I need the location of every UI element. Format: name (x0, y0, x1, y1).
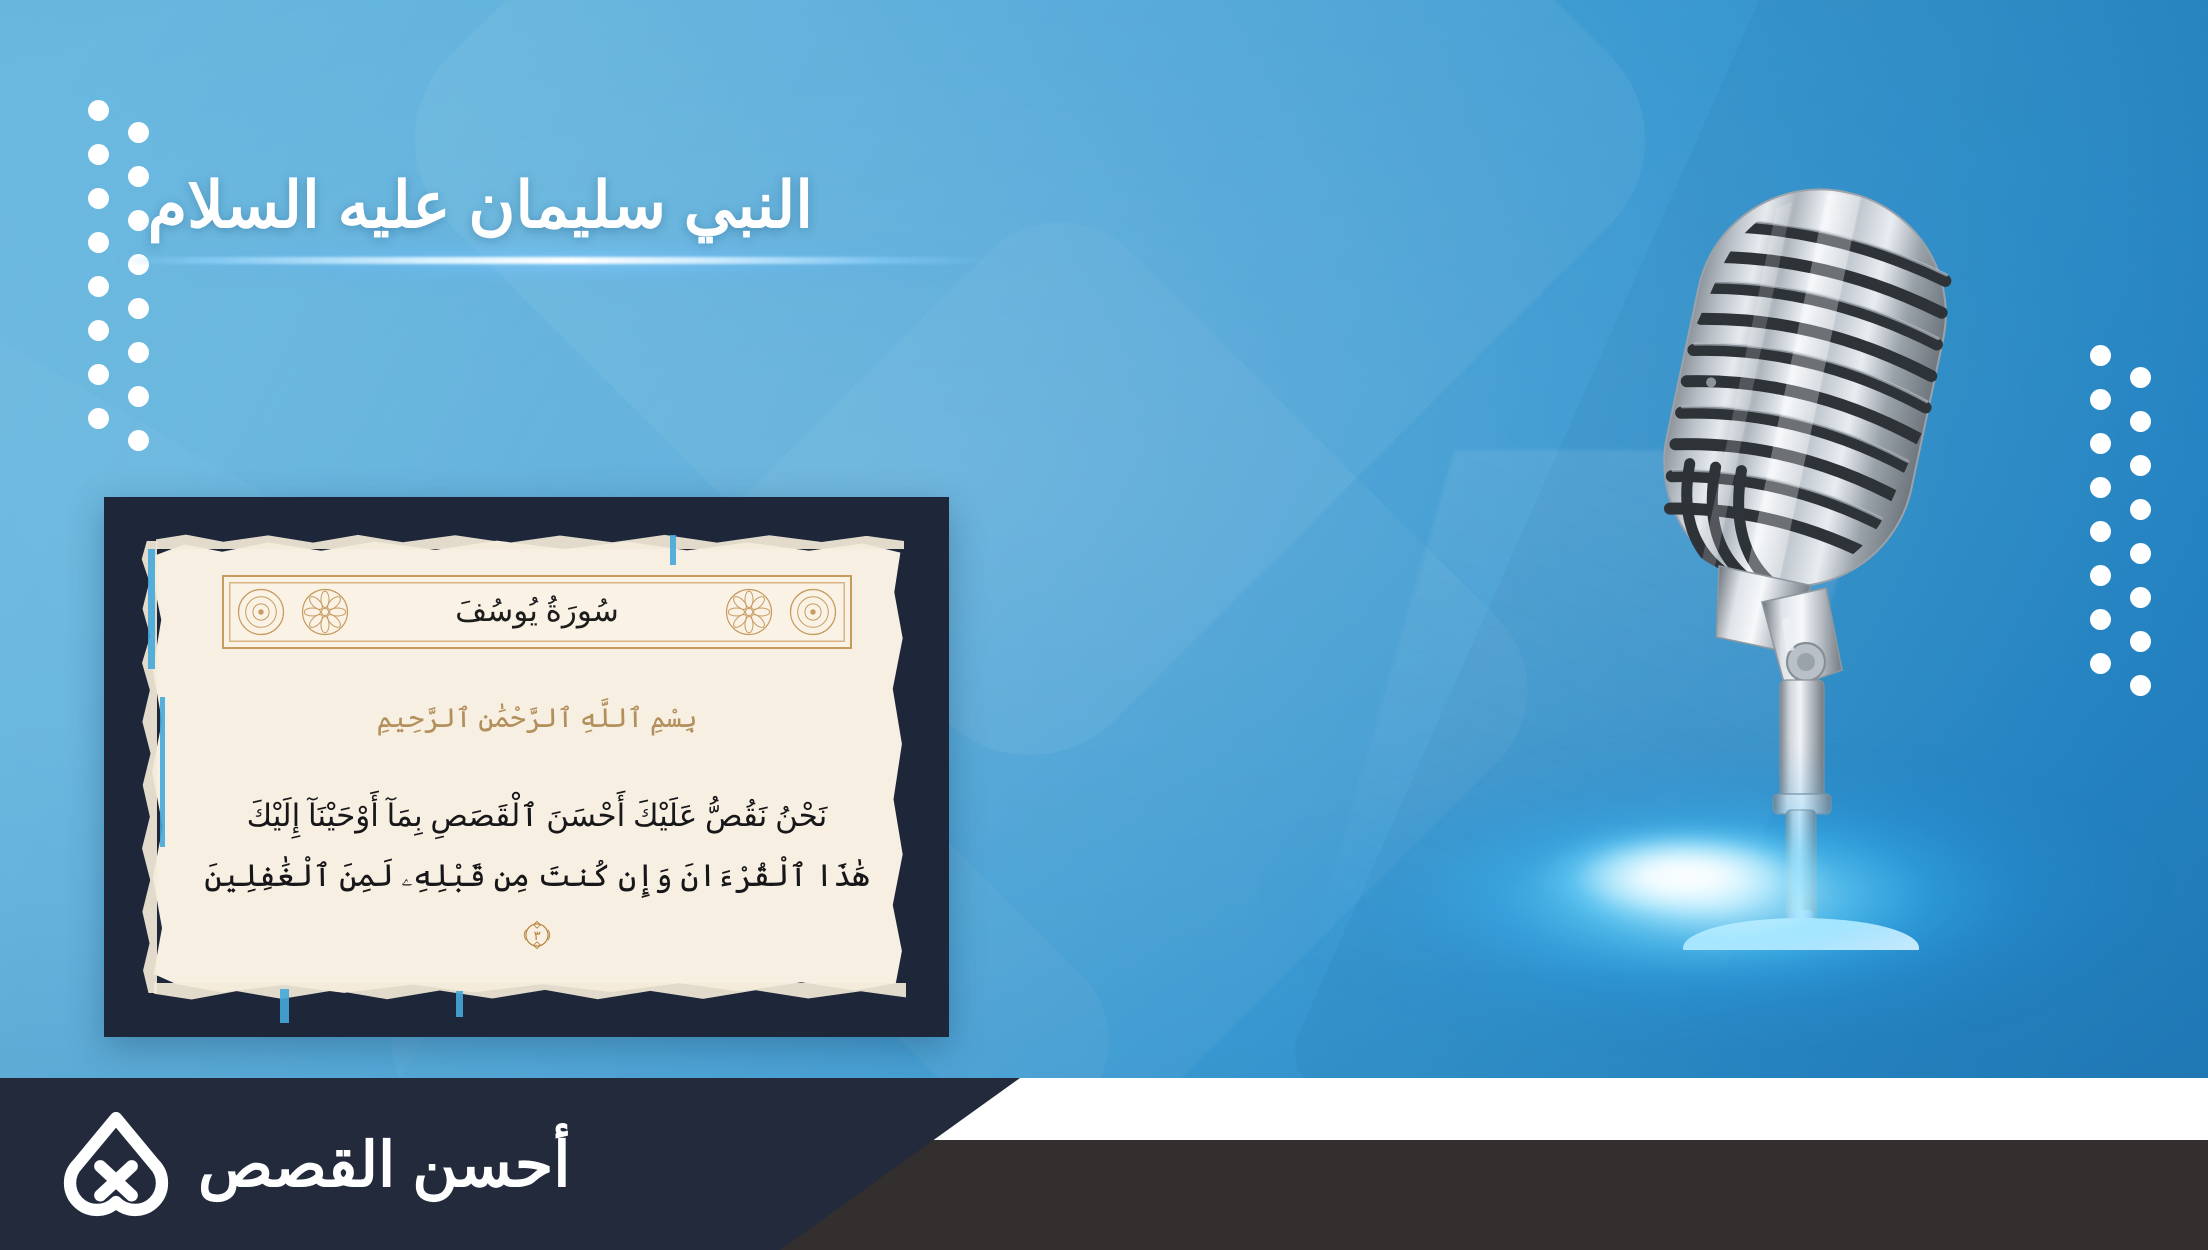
dot-pattern-left (88, 100, 198, 440)
footer-brand-label: أحسن القصص (198, 1128, 570, 1201)
decorative-dot (128, 386, 149, 407)
quran-verse-card: سُورَةُ يُوسُفَ بِسْمِ ٱللَّهِ ٱلرَّحْمَ… (104, 497, 949, 1037)
ayah-number-marker-icon: ٣ (520, 918, 554, 952)
decorative-dot (2130, 587, 2151, 608)
brush-flick-e (670, 535, 676, 565)
decorative-dot (88, 144, 109, 165)
thumbnail-canvas: النبي سليمان عليه السلام (0, 0, 2208, 1250)
verse-line-1: نَحْنُ نَقُصُّ عَلَيْكَ أَحْسَنَ ٱلْقَصَ… (200, 786, 874, 846)
retro-microphone-icon (1480, 150, 2020, 950)
dot-pattern-right (2090, 345, 2200, 685)
decorative-dot (88, 188, 109, 209)
brush-flick-c (280, 989, 289, 1023)
decorative-dot (88, 232, 109, 253)
decorative-dot (2090, 433, 2111, 454)
surah-name: سُورَةُ يُوسُفَ (224, 577, 850, 647)
decorative-dot (88, 364, 109, 385)
brush-flick-d (456, 991, 463, 1017)
decorative-dot (2130, 543, 2151, 564)
basmala-text: بِسْمِ ٱللَّهِ ٱلرَّحْمَٰنِ ٱلرَّحِيمِ (192, 703, 882, 734)
decorative-dot (128, 298, 149, 319)
decorative-dot (128, 122, 149, 143)
page-title: النبي سليمان عليه السلام (173, 165, 813, 245)
decorative-dot (2090, 477, 2111, 498)
decorative-dot (2090, 345, 2111, 366)
decorative-dot (88, 276, 109, 297)
ahsan-alqasas-logo-icon (60, 1108, 172, 1220)
footer-brand: أحسن القصص (60, 1078, 570, 1250)
decorative-dot (128, 166, 149, 187)
decorative-dot (2090, 565, 2111, 586)
card-content: سُورَةُ يُوسُفَ بِسْمِ ٱللَّهِ ٱلرَّحْمَ… (192, 575, 882, 967)
verse-line-2: هَٰذَا ٱلْقُرْءَانَ وَإِن كُنتَ مِن قَبْ… (204, 858, 869, 893)
verse-text: نَحْنُ نَقُصُّ عَلَيْكَ أَحْسَنَ ٱلْقَصَ… (192, 786, 882, 967)
decorative-dot (128, 430, 149, 451)
ayah-number: ٣ (534, 929, 541, 943)
decorative-dot (2130, 455, 2151, 476)
decorative-dot (2090, 653, 2111, 674)
verse-line-2-wrap: هَٰذَا ٱلْقُرْءَانَ وَإِن كُنتَ مِن قَبْ… (200, 846, 874, 967)
decorative-dot (128, 254, 149, 275)
decorative-dot (2130, 631, 2151, 652)
decorative-dot (88, 320, 109, 341)
microphone-illustration (1480, 150, 2020, 950)
decorative-dot (2090, 609, 2111, 630)
footer-bar: أحسن القصص (0, 1078, 2208, 1250)
decorative-dot (128, 210, 149, 231)
surah-header-band: سُورَةُ يُوسُفَ (222, 575, 852, 649)
brush-flick-b (160, 697, 165, 847)
decorative-dot (2130, 411, 2151, 432)
decorative-dot (2130, 499, 2151, 520)
decorative-dot (2130, 675, 2151, 696)
brush-flick-a (148, 549, 155, 669)
decorative-dot (2090, 521, 2111, 542)
decorative-dot (88, 100, 109, 121)
decorative-dot (2090, 389, 2111, 410)
decorative-dot (88, 408, 109, 429)
decorative-dot (2130, 367, 2151, 388)
decorative-dot (128, 342, 149, 363)
